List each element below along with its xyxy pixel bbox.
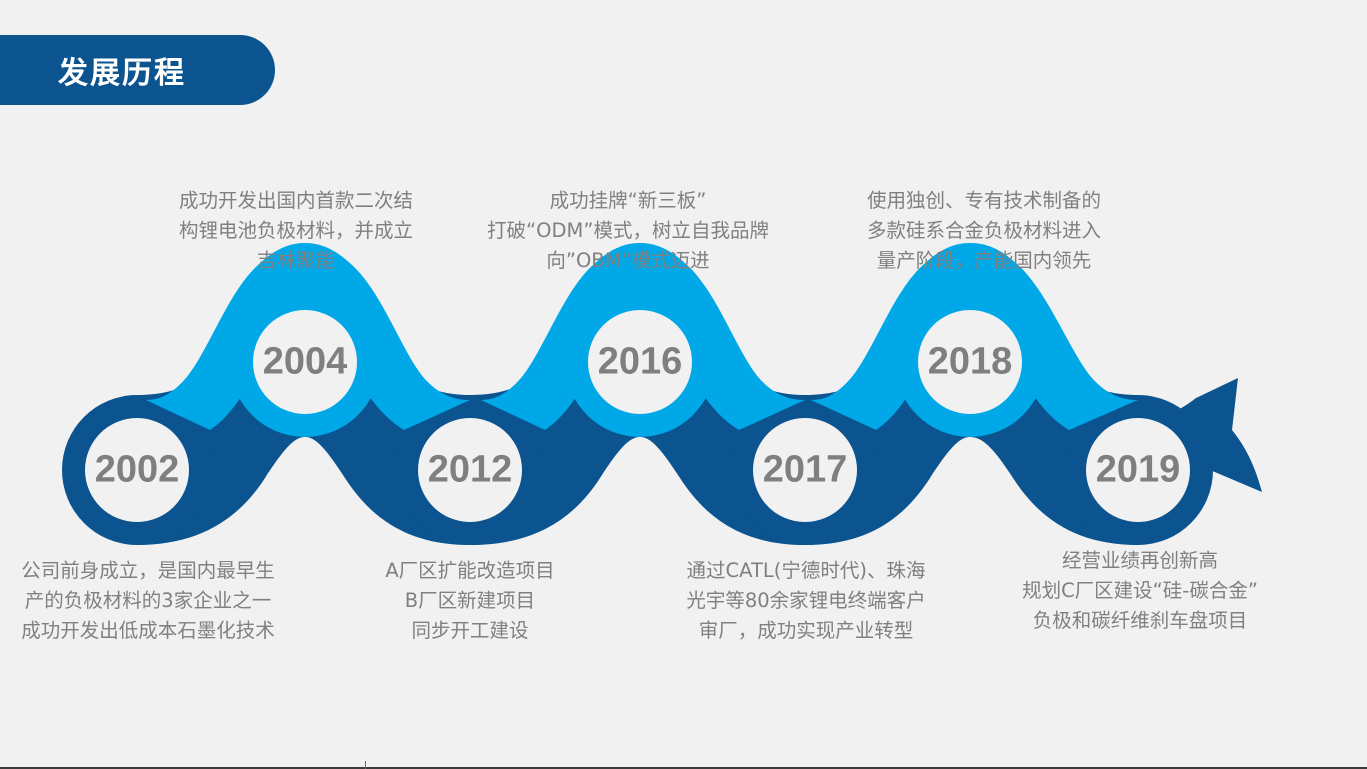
- milestone-year-2012[interactable]: 2012: [428, 449, 513, 492]
- description-line: 打破“ODM”模式，树立自我品牌: [487, 216, 769, 246]
- description-line: A厂区扩能改造项目: [385, 556, 554, 586]
- milestone-description-2004: 成功开发出国内首款二次结 构锂电池负极材料，并成立 吉林聚能: [179, 186, 413, 276]
- milestone-description-2019: 经营业绩再创新高 规划C厂区建设“硅-碳合金” 负极和碳纤维刹车盘项目: [1022, 546, 1258, 636]
- description-line: 构锂电池负极材料，并成立: [179, 216, 413, 246]
- description-line: 吉林聚能: [179, 246, 413, 276]
- description-line: B厂区新建项目: [385, 586, 554, 616]
- milestone-description-2017: 通过CATL(宁德时代)、珠海 光宇等80余家锂电终端客户 审厂，成功实现产业转…: [686, 556, 925, 646]
- timeline-band-dark: [62, 287, 1264, 545]
- milestone-description-2018: 使用独创、专有技术制备的 多款硅系合金负极材料进入 量产阶段，产能国内领先: [867, 186, 1101, 276]
- milestone-year-2004[interactable]: 2004: [263, 341, 348, 384]
- description-line: 成功开发出低成本石墨化技术: [21, 616, 275, 646]
- description-line: 多款硅系合金负极材料进入: [867, 216, 1101, 246]
- description-line: 成功挂牌“新三板”: [487, 186, 769, 216]
- description-line: 通过CATL(宁德时代)、珠海: [686, 556, 925, 586]
- description-line: 产的负极材料的3家企业之一: [21, 586, 275, 616]
- description-line: 规划C厂区建设“硅-碳合金”: [1022, 576, 1258, 606]
- milestone-year-2002[interactable]: 2002: [95, 449, 180, 492]
- description-line: 负极和碳纤维刹车盘项目: [1022, 606, 1258, 636]
- description-line: 向”OBM“模式迈进: [487, 246, 769, 276]
- page-title: 发展历程: [58, 48, 186, 92]
- milestone-description-2002: 公司前身成立，是国内最早生 产的负极材料的3家企业之一 成功开发出低成本石墨化技…: [21, 556, 275, 646]
- bottom-divider-tick: [365, 761, 366, 769]
- description-line: 使用独创、专有技术制备的: [867, 186, 1101, 216]
- description-line: 成功开发出国内首款二次结: [179, 186, 413, 216]
- milestone-year-2017[interactable]: 2017: [763, 449, 848, 492]
- milestone-year-2018[interactable]: 2018: [928, 341, 1013, 384]
- timeline-graphic: [0, 0, 1367, 769]
- page-title-banner: 发展历程: [0, 35, 275, 105]
- description-line: 审厂，成功实现产业转型: [686, 616, 925, 646]
- description-line: 经营业绩再创新高: [1022, 546, 1258, 576]
- description-line: 量产阶段，产能国内领先: [867, 246, 1101, 276]
- milestone-year-2016[interactable]: 2016: [598, 341, 683, 384]
- milestone-description-2012: A厂区扩能改造项目 B厂区新建项目 同步开工建设: [385, 556, 554, 646]
- description-line: 公司前身成立，是国内最早生: [21, 556, 275, 586]
- milestone-year-2019[interactable]: 2019: [1096, 449, 1181, 492]
- milestone-description-2016: 成功挂牌“新三板” 打破“ODM”模式，树立自我品牌 向”OBM“模式迈进: [487, 186, 769, 276]
- description-line: 同步开工建设: [385, 616, 554, 646]
- description-line: 光宇等80余家锂电终端客户: [686, 586, 925, 616]
